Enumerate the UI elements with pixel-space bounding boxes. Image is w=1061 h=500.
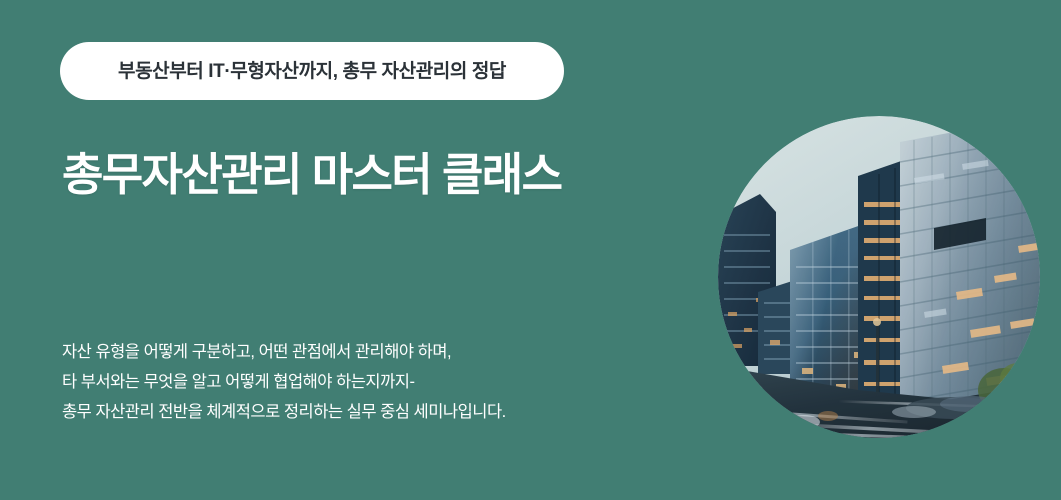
description-block: 자산 유형을 어떻게 구분하고, 어떤 관점에서 관리해야 하며, 타 부서와는…: [62, 337, 622, 427]
cityscape-photo: [718, 116, 1040, 438]
promo-banner: 부동산부터 IT·무형자산까지, 총무 자산관리의 정답 총무자산관리 마스터 …: [0, 0, 1061, 500]
description-line: 자산 유형을 어떻게 구분하고, 어떤 관점에서 관리해야 하며,: [62, 337, 622, 367]
badge-label: 부동산부터 IT·무형자산까지, 총무 자산관리의 정답: [118, 62, 506, 81]
description-line: 총무 자산관리 전반을 체계적으로 정리하는 실무 중심 세미나입니다.: [62, 397, 622, 427]
badge-pill: 부동산부터 IT·무형자산까지, 총무 자산관리의 정답: [60, 42, 564, 100]
description-line: 타 부서와는 무엇을 알고 어떻게 협업해야 하는지까지-: [62, 367, 622, 397]
page-title: 총무자산관리 마스터 클래스: [62, 150, 561, 200]
